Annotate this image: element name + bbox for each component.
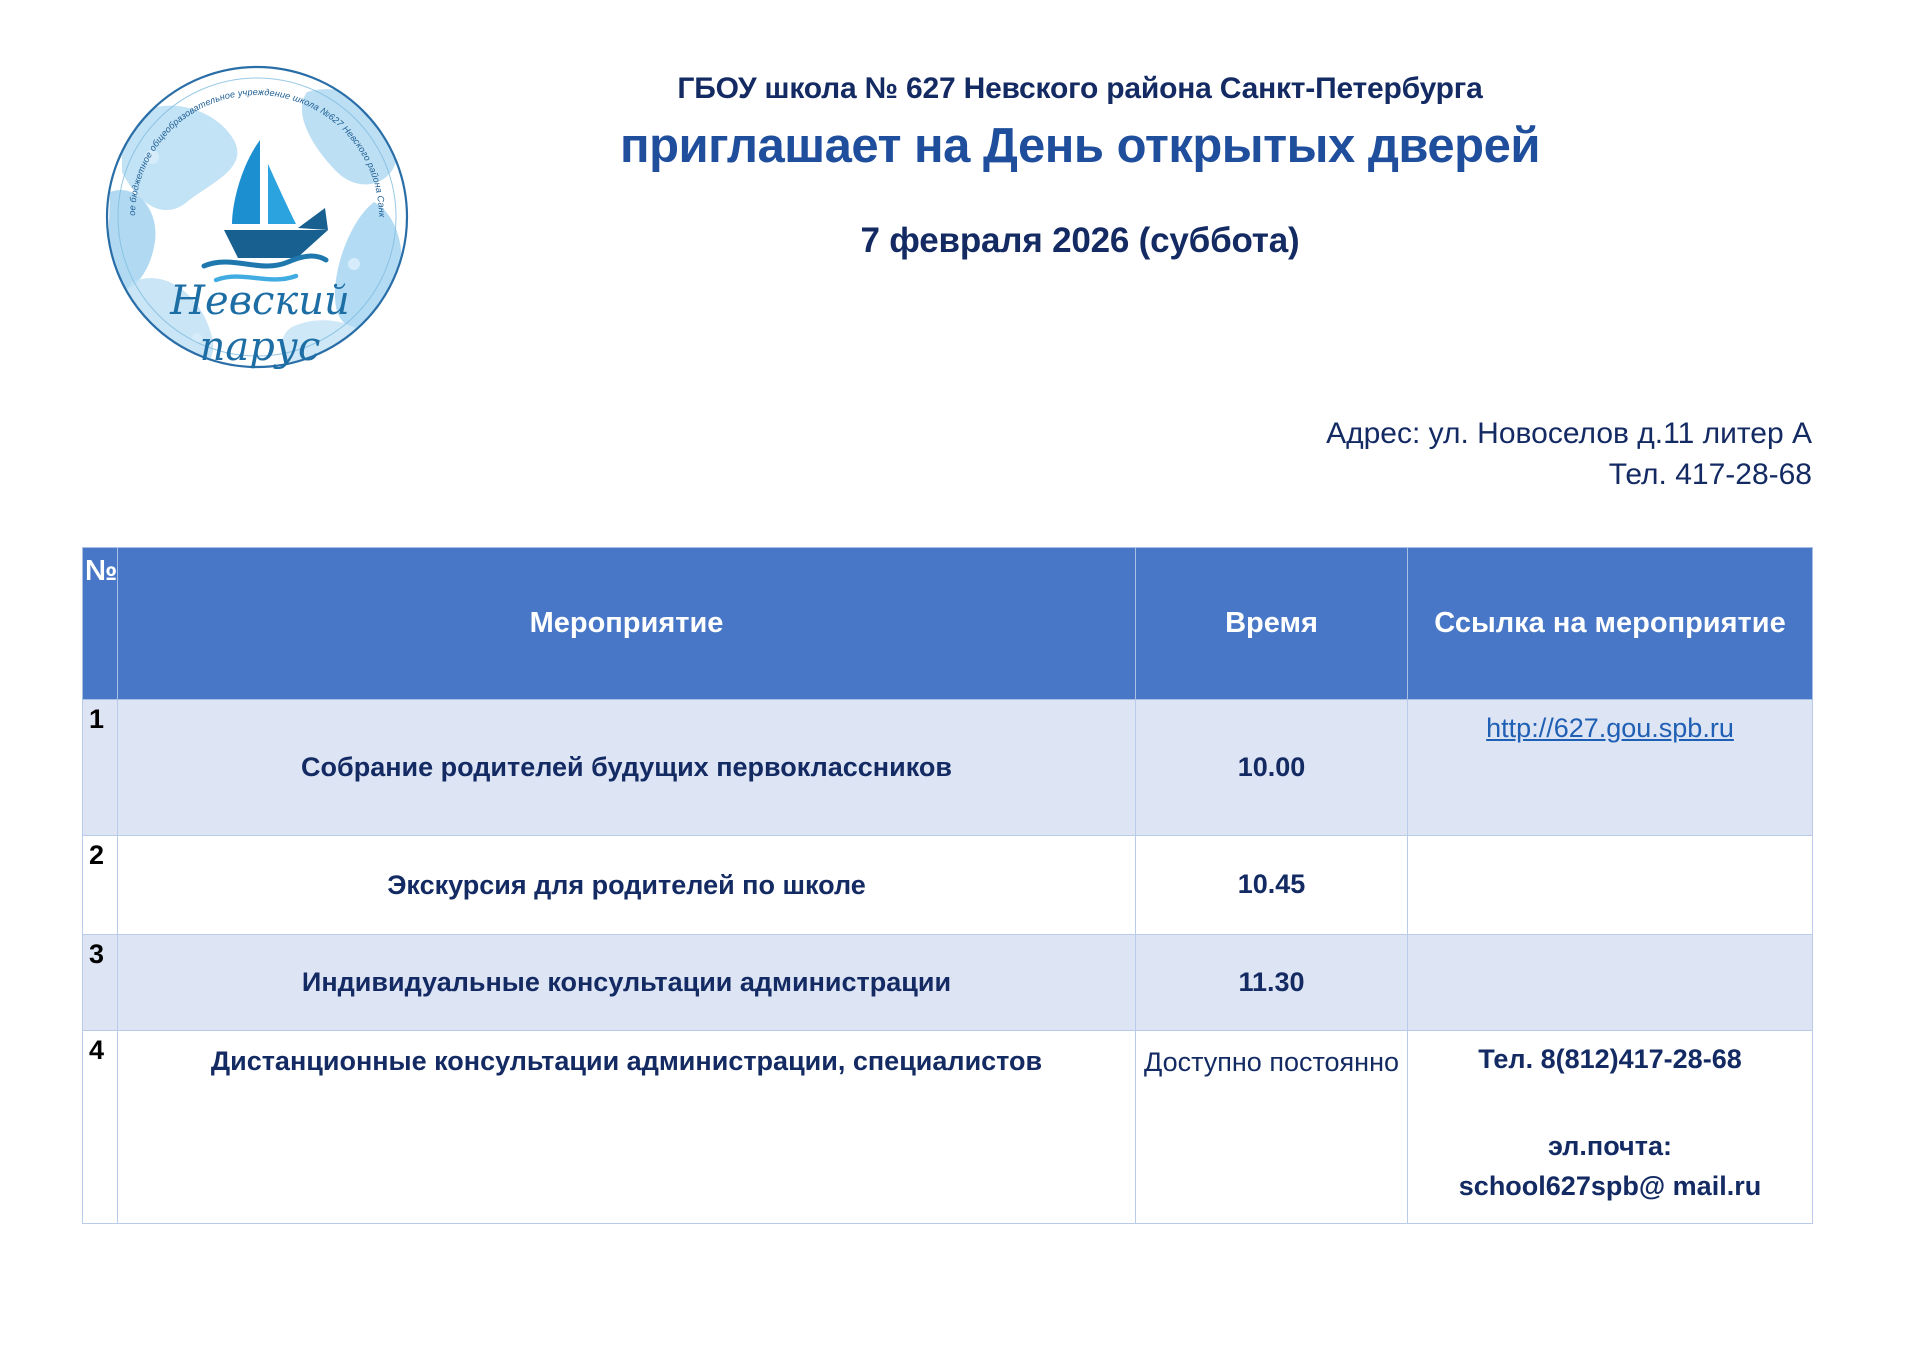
event-time: 11.30	[1136, 935, 1408, 1031]
table-row: 1 Собрание родителей будущих первоклассн…	[83, 700, 1813, 836]
event-contact-cell: Тел. 8(812)417-28-68 эл.почта: school627…	[1408, 1031, 1813, 1224]
school-logo-svg: Государственное бюджетное общеобразовате…	[92, 52, 422, 382]
contact-spacer	[1414, 1080, 1806, 1126]
contact-email-label: эл.почта:	[1414, 1126, 1806, 1167]
school-name: ГБОУ школа № 627 Невского района Санкт-П…	[420, 72, 1740, 107]
logo-name-line1: Невский	[169, 278, 350, 324]
row-number: 1	[83, 700, 118, 836]
table-header-row: № Мероприятие Время Ссылка на мероприяти…	[83, 548, 1813, 700]
row-number: 3	[83, 935, 118, 1031]
address-line: Адрес: ул. Новоселов д.11 литер А	[1326, 414, 1812, 455]
event-link-cell	[1408, 935, 1813, 1031]
event-name: Дистанционные консультации администрации…	[118, 1031, 1136, 1224]
event-name: Индивидуальные консультации администраци…	[118, 935, 1136, 1031]
event-time: 10.00	[1136, 700, 1408, 836]
row-number: 2	[83, 836, 118, 935]
event-link[interactable]: http://627.gou.spb.ru	[1486, 713, 1734, 743]
contact-phone: Тел. 8(812)417-28-68	[1414, 1039, 1806, 1080]
column-header-time: Время	[1136, 548, 1408, 700]
event-link-cell	[1408, 836, 1813, 935]
schedule-table-container: № Мероприятие Время Ссылка на мероприяти…	[82, 547, 1812, 1224]
event-time: 10.45	[1136, 836, 1408, 935]
column-header-event: Мероприятие	[118, 548, 1136, 700]
phone-line: Тел. 417-28-68	[1326, 455, 1812, 496]
row-number: 4	[83, 1031, 118, 1224]
address-block: Адрес: ул. Новоселов д.11 литер А Тел. 4…	[1326, 414, 1812, 495]
table-row: 2 Экскурсия для родителей по школе 10.45	[83, 836, 1813, 935]
poster-header: ГБОУ школа № 627 Невского района Санкт-П…	[420, 72, 1740, 261]
logo-name-line2: парус	[200, 324, 321, 370]
table-row: 3 Индивидуальные консультации администра…	[83, 935, 1813, 1031]
event-name: Экскурсия для родителей по школе	[118, 836, 1136, 935]
column-header-num: №	[83, 548, 118, 700]
event-name: Собрание родителей будущих первоклассник…	[118, 700, 1136, 836]
schedule-table: № Мероприятие Время Ссылка на мероприяти…	[82, 547, 1813, 1224]
contact-email[interactable]: school627spb@ mail.ru	[1414, 1166, 1806, 1207]
event-time: Доступно постоянно	[1136, 1031, 1408, 1224]
event-date: 7 февраля 2026 (суббота)	[420, 221, 1740, 261]
page-title: приглашает на День открытых дверей	[420, 119, 1740, 174]
school-logo: Государственное бюджетное общеобразовате…	[92, 52, 422, 382]
column-header-link: Ссылка на мероприятие	[1408, 548, 1813, 700]
table-row: 4 Дистанционные консультации администрац…	[83, 1031, 1813, 1224]
event-link-cell: http://627.gou.spb.ru	[1408, 700, 1813, 836]
